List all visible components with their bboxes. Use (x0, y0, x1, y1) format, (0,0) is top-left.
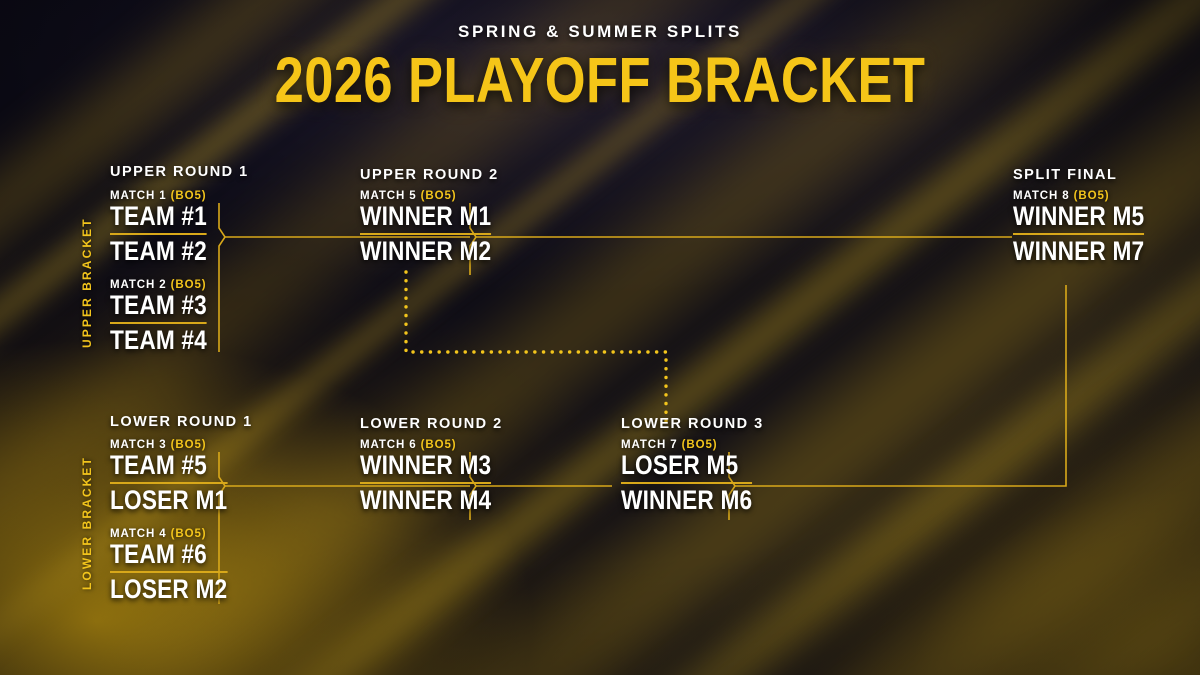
side-label-lower-bracket: LOWER BRACKET (80, 456, 94, 590)
match-m7-slot-bottom[interactable]: WINNER M6 (621, 487, 752, 516)
match-card-m8[interactable]: MATCH 8 (BO5) WINNER M5 WINNER M7 (1013, 190, 1169, 267)
round-title-lower-round-3: LOWER ROUND 3 (621, 416, 764, 432)
side-label-upper-bracket: UPPER BRACKET (80, 217, 94, 348)
match-m1-slot-top[interactable]: TEAM #1 (110, 203, 207, 235)
match-m3-slot-bottom[interactable]: LOSER M1 (110, 487, 227, 516)
match-m5-slot-top[interactable]: WINNER M1 (360, 203, 491, 235)
match-m7-slot-top[interactable]: LOSER M5 (621, 452, 752, 484)
match-card-m1[interactable]: MATCH 1 (BO5) TEAM #1 TEAM #2 (110, 190, 225, 267)
match-card-m5[interactable]: MATCH 5 (BO5) WINNER M1 WINNER M2 (360, 190, 516, 267)
match-m1-slot-bottom[interactable]: TEAM #2 (110, 238, 207, 267)
match-m8-slot-bottom[interactable]: WINNER M7 (1013, 238, 1144, 267)
match-card-m3[interactable]: MATCH 3 (BO5) TEAM #5 LOSER M1 (110, 439, 250, 516)
round-title-lower-round-2: LOWER ROUND 2 (360, 416, 503, 432)
round-title-lower-round-1: LOWER ROUND 1 (110, 414, 253, 430)
match-card-m7[interactable]: MATCH 7 (BO5) LOSER M5 WINNER M6 (621, 439, 777, 516)
match-card-m4[interactable]: MATCH 4 (BO5) TEAM #6 LOSER M2 (110, 528, 250, 605)
match-m4-slot-top[interactable]: TEAM #6 (110, 541, 227, 573)
match-m3-slot-top[interactable]: TEAM #5 (110, 452, 227, 484)
round-title-upper-round-1: UPPER ROUND 1 (110, 164, 249, 180)
match-m4-slot-bottom[interactable]: LOSER M2 (110, 576, 227, 605)
match-m8-slot-top[interactable]: WINNER M5 (1013, 203, 1144, 235)
match-m5-slot-bottom[interactable]: WINNER M2 (360, 238, 491, 267)
round-title-upper-round-2: UPPER ROUND 2 (360, 167, 499, 183)
match-m2-slot-bottom[interactable]: TEAM #4 (110, 327, 207, 356)
match-m6-slot-top[interactable]: WINNER M3 (360, 452, 491, 484)
round-title-split-final: SPLIT FINAL (1013, 167, 1117, 183)
match-m6-slot-bottom[interactable]: WINNER M4 (360, 487, 491, 516)
match-card-m6[interactable]: MATCH 6 (BO5) WINNER M3 WINNER M4 (360, 439, 516, 516)
match-card-m2[interactable]: MATCH 2 (BO5) TEAM #3 TEAM #4 (110, 279, 225, 356)
match-m2-slot-top[interactable]: TEAM #3 (110, 292, 207, 324)
